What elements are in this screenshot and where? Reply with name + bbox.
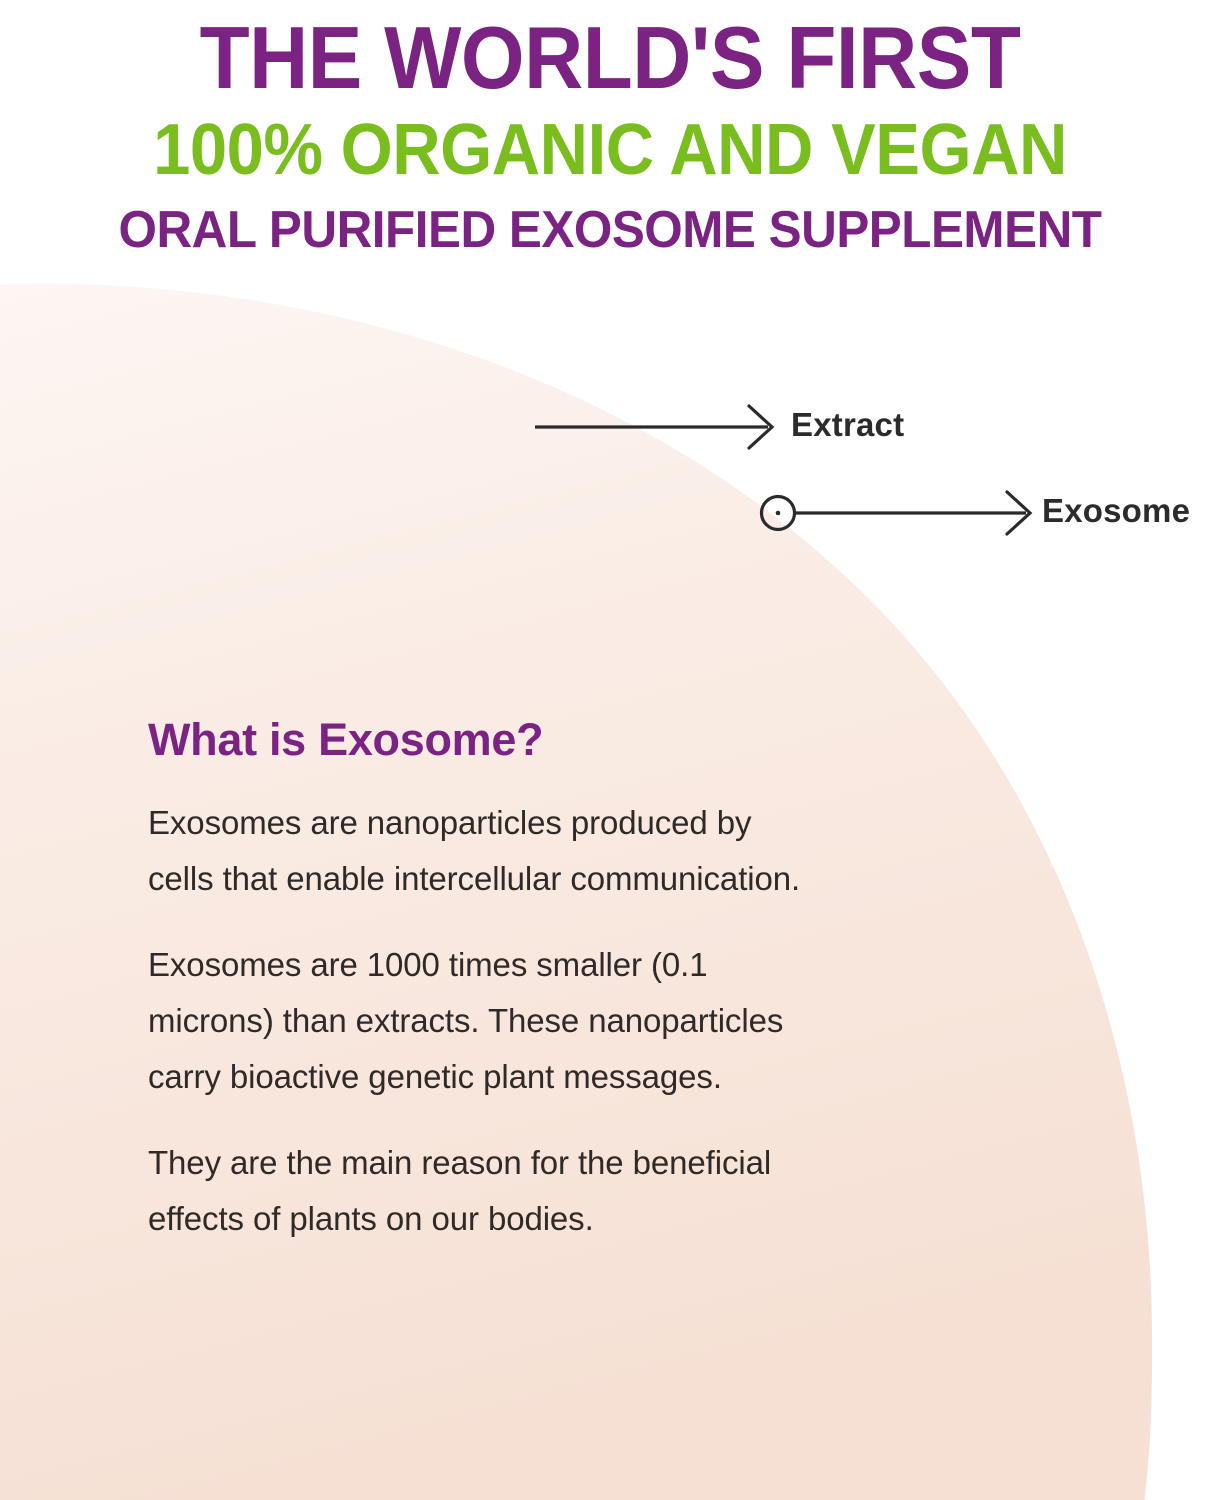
promo-graphic-page: THE WORLD'S FIRST 100% ORGANIC AND VEGAN… xyxy=(0,0,1220,1500)
section-heading: What is Exosome? xyxy=(148,716,808,765)
arrow-right-icon xyxy=(535,406,772,448)
headline-line-1: THE WORLD'S FIRST xyxy=(43,0,1178,102)
headline-line-3: ORAL PURIFIED EXOSOME SUPPLEMENT xyxy=(31,186,1190,256)
diagram-label-extract: Extract xyxy=(791,406,904,444)
circle-dot-arrow-right-icon xyxy=(762,492,1031,534)
headline-line-2: 100% ORGANIC AND VEGAN xyxy=(43,102,1178,186)
diagram-label-exosome: Exosome xyxy=(1042,492,1190,530)
body-paragraph: Exosomes are 1000 times smaller (0.1 mic… xyxy=(148,937,808,1105)
content-column: What is Exosome? Exosomes are nanopartic… xyxy=(148,716,808,1247)
body-paragraph: Exosomes are nanoparticles produced by c… xyxy=(148,795,808,907)
scale-comparison-diagram: Extract Exosome xyxy=(500,380,1220,570)
headline-block: THE WORLD'S FIRST 100% ORGANIC AND VEGAN… xyxy=(0,0,1220,256)
body-paragraph: They are the main reason for the benefic… xyxy=(148,1135,808,1247)
